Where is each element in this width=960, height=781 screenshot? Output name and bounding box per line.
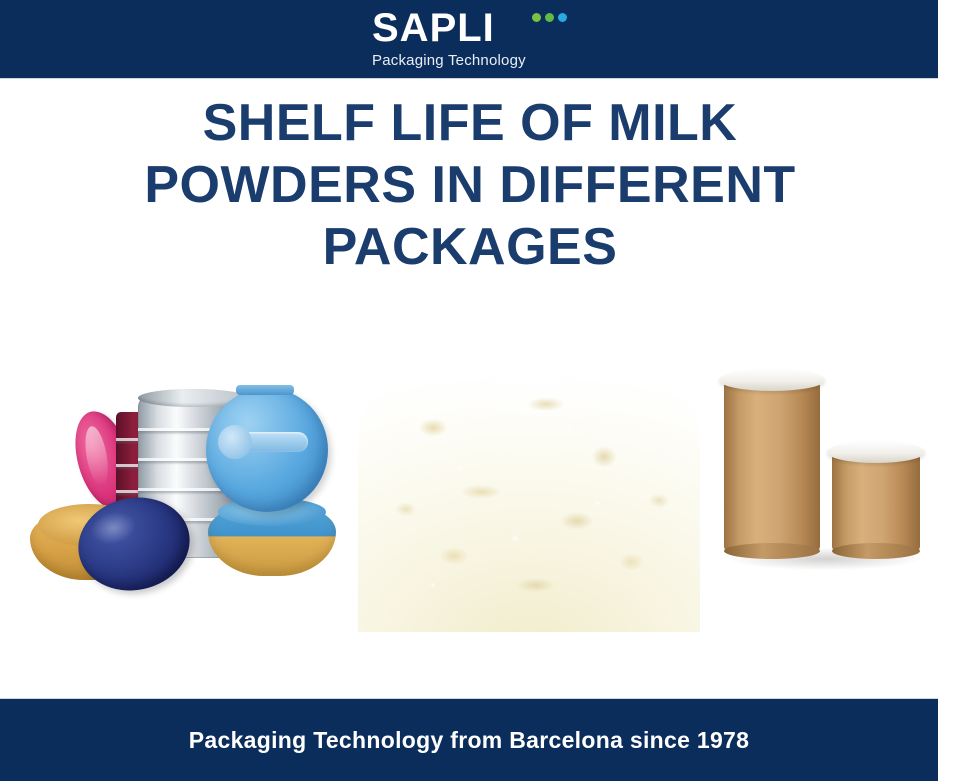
- title-line-1: SHELF LIFE OF MILK: [0, 92, 940, 154]
- drum-body-graphic: [724, 380, 820, 552]
- small-fibre-drum-graphic: [832, 452, 920, 552]
- drum-body-graphic: [832, 452, 920, 552]
- header-bar: SAPLI Packaging Technology: [0, 0, 938, 78]
- cyan-dot-icon: [558, 13, 567, 22]
- large-fibre-drum-graphic: [724, 380, 820, 552]
- drum-lid-graphic: [719, 369, 825, 391]
- title-line-3: PACKAGES: [0, 216, 940, 278]
- footer-bar: Packaging Technology from Barcelona sinc…: [0, 699, 938, 781]
- plastic-and-metal-tins-photo: [20, 380, 350, 640]
- image-row: [0, 330, 940, 670]
- measuring-spoon-graphic: [226, 432, 308, 452]
- footer-tagline: Packaging Technology from Barcelona sinc…: [189, 727, 749, 754]
- milk-powder-mound-graphic: [358, 340, 700, 632]
- fibre-drums-photo: [720, 350, 932, 630]
- logo-wordmark: SAPLI: [372, 6, 495, 50]
- lid-hinge-graphic: [236, 385, 294, 395]
- logo-dots-icon: [532, 13, 567, 22]
- presentation-slide: SAPLI Packaging Technology SHELF LIFE OF…: [0, 0, 960, 781]
- blue-lid-with-spoon-graphic: [206, 388, 328, 512]
- drum-base-graphic: [724, 543, 820, 559]
- milk-powder-photo: [358, 340, 700, 632]
- page-title: SHELF LIFE OF MILK POWDERS IN DIFFERENT …: [0, 92, 940, 278]
- drum-lid-graphic: [827, 441, 925, 463]
- title-line-2: POWDERS IN DIFFERENT: [0, 154, 940, 216]
- sapli-logo: SAPLI Packaging Technology: [372, 6, 592, 74]
- drum-base-graphic: [832, 543, 920, 559]
- blue-gold-tin-graphic: [208, 502, 336, 576]
- green-dot-icon: [545, 13, 554, 22]
- logo-tagline: Packaging Technology: [372, 51, 592, 71]
- green-dot-icon: [532, 13, 541, 22]
- title-area: SHELF LIFE OF MILK POWDERS IN DIFFERENT …: [0, 92, 940, 278]
